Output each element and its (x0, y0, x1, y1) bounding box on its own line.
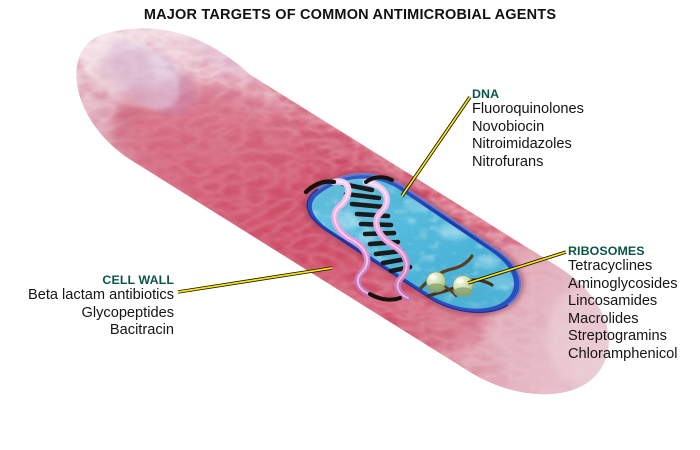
callout-ribosomes-item: Macrolides (568, 311, 678, 329)
ribosome (427, 272, 446, 293)
callout-ribosomes-item: Lincosamides (568, 293, 678, 311)
callout-cell-wall-item: Bacitracin (0, 322, 174, 340)
leader-line-dna (402, 97, 470, 196)
callout-ribosomes-item: Chloramphenicol (568, 346, 678, 364)
callout-cell-wall-heading: CELL WALL (0, 274, 174, 287)
callout-ribosomes: RIBOSOMES Tetracyclines Aminoglycosides … (568, 245, 678, 364)
ribosome (453, 276, 473, 297)
callout-cell-wall-item: Glycopeptides (0, 305, 174, 323)
callout-cell-wall: CELL WALL Beta lactam antibiotics Glycop… (0, 274, 174, 340)
callout-dna-item: Nitroimidazoles (472, 136, 584, 154)
callout-cell-wall-item: Beta lactam antibiotics (0, 287, 174, 305)
bacterium-illustration (0, 0, 700, 450)
callout-dna-item: Novobiocin (472, 119, 584, 137)
callout-dna-heading: DNA (472, 88, 584, 101)
leader-line-cell-wall (178, 268, 332, 292)
callout-ribosomes-item: Aminoglycosides (568, 276, 678, 294)
callout-dna-item: Fluoroquinolones (472, 101, 584, 119)
callout-ribosomes-item: Tetracyclines (568, 258, 678, 276)
callout-dna: DNA Fluoroquinolones Novobiocin Nitroimi… (472, 88, 584, 171)
callout-dna-item: Nitrofurans (472, 154, 584, 172)
callout-ribosomes-item: Streptogramins (568, 328, 678, 346)
diagram-canvas: MAJOR TARGETS OF COMMON ANTIMICROBIAL AG… (0, 0, 700, 450)
callout-ribosomes-heading: RIBOSOMES (568, 245, 678, 258)
